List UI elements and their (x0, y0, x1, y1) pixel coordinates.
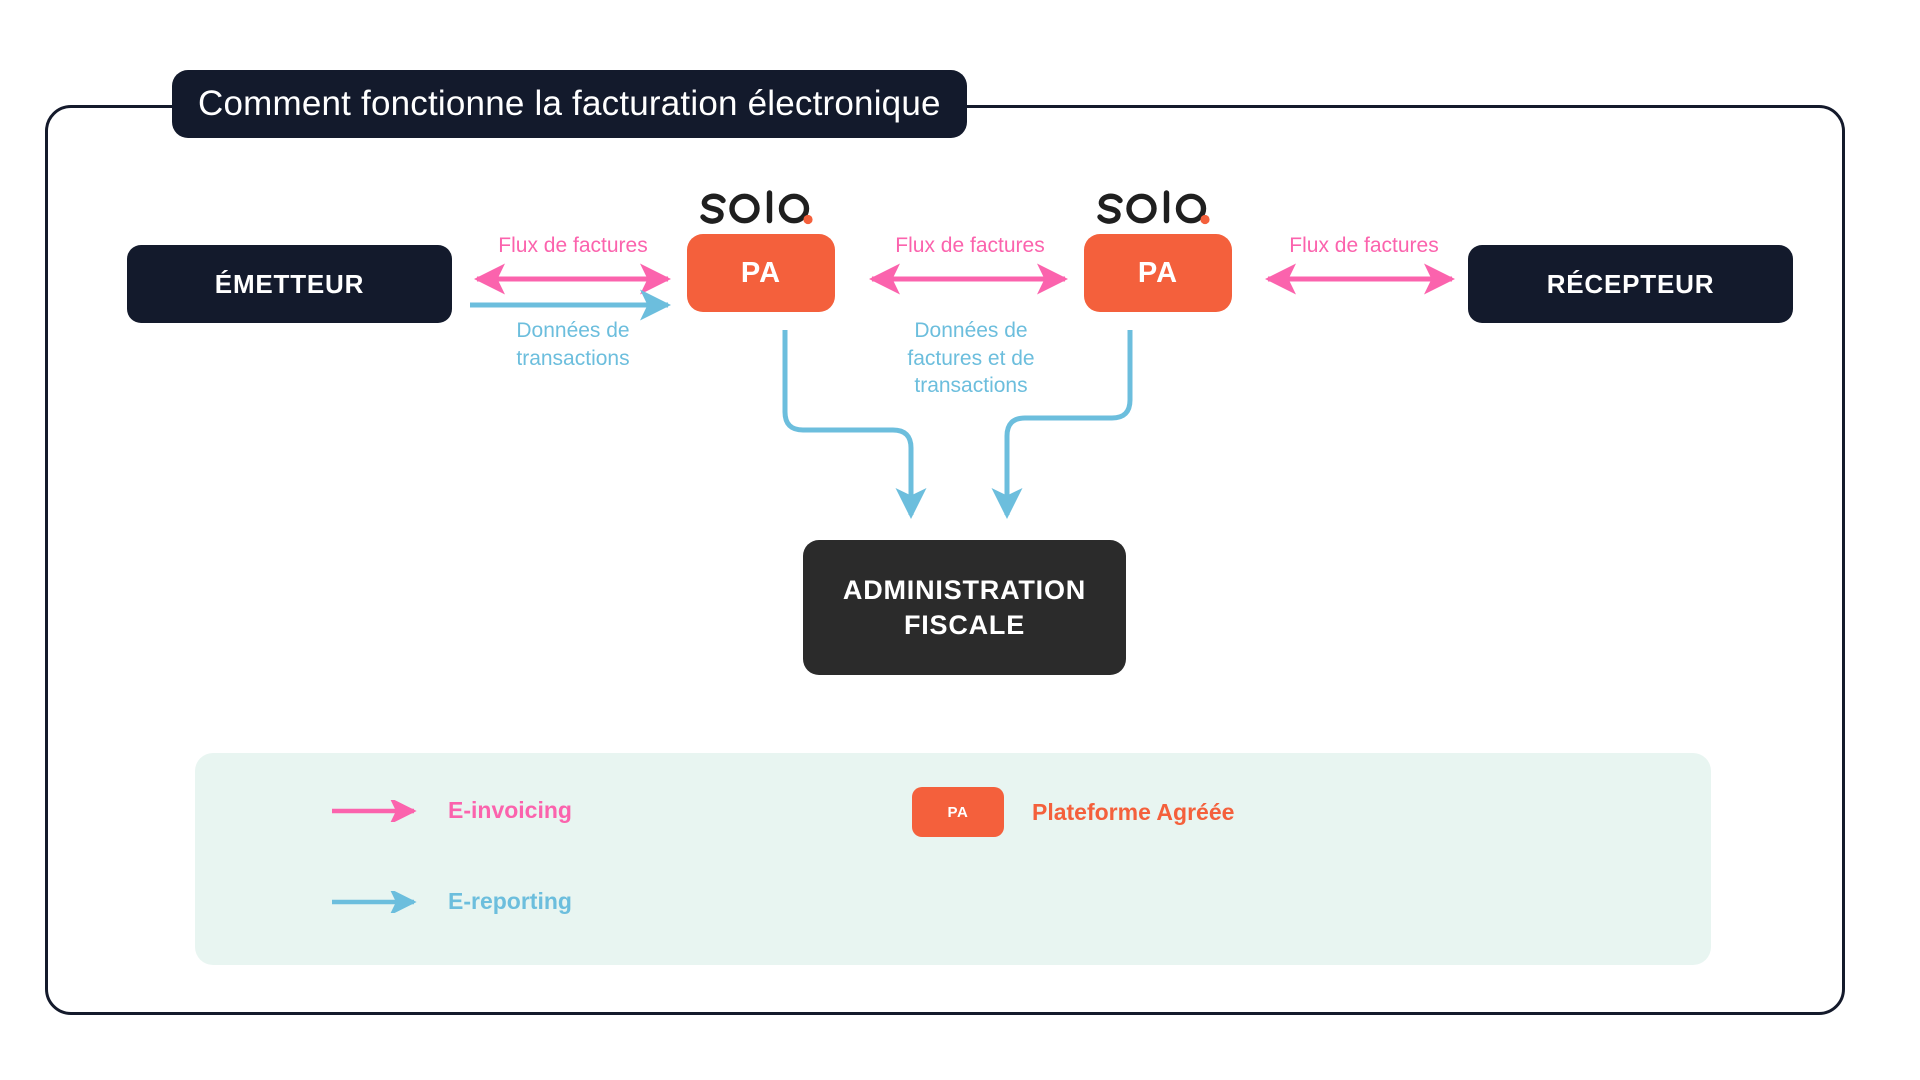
legend-panel (195, 753, 1711, 965)
flow-label-invoicing-3: Flux de factures (1246, 232, 1482, 260)
legend-label-plateforme-agreee: Plateforme Agréée (1032, 799, 1234, 826)
flow-label-invoicing-2: Flux de factures (852, 232, 1088, 260)
node-administration-label: ADMINISTRATION FISCALE (843, 573, 1086, 642)
solo-logo-icon (687, 188, 835, 230)
flow-label-reporting-2: Données de factures et de transactions (866, 317, 1076, 400)
legend-item-e-reporting: E-reporting (330, 888, 572, 915)
pa-chip-icon: PA (912, 787, 1004, 837)
blue-arrow-icon (330, 891, 426, 913)
legend-pa-chip-label: PA (948, 804, 969, 821)
flow-label-reporting-2-line1: Données de (914, 319, 1027, 342)
admin-line-1: ADMINISTRATION (843, 575, 1086, 605)
legend-item-e-invoicing: E-invoicing (330, 797, 572, 824)
page-title: Comment fonctionne la facturation électr… (198, 84, 941, 124)
node-emetteur[interactable]: ÉMETTEUR (127, 245, 452, 323)
flow-label-reporting-1: Données de transactions (455, 317, 691, 372)
pink-arrow-icon (330, 800, 426, 822)
platform-pa-label-2: PA (1138, 257, 1178, 290)
platform-group-2: PA (1084, 188, 1232, 312)
platform-pa-label-1: PA (741, 257, 781, 290)
node-recepteur-label: RÉCEPTEUR (1547, 269, 1715, 300)
flow-label-reporting-2-line3: transactions (914, 374, 1027, 397)
diagram-title-badge: Comment fonctionne la facturation électr… (172, 70, 967, 138)
legend-label-e-invoicing: E-invoicing (448, 797, 572, 824)
node-administration-fiscale[interactable]: ADMINISTRATION FISCALE (803, 540, 1126, 675)
node-recepteur[interactable]: RÉCEPTEUR (1468, 245, 1793, 323)
solo-logo-icon (1084, 188, 1232, 230)
legend-label-e-reporting: E-reporting (448, 888, 572, 915)
flow-label-reporting-2-line2: factures et de (907, 347, 1034, 370)
admin-line-2: FISCALE (904, 610, 1025, 640)
legend-item-plateforme-agreee: PA Plateforme Agréée (912, 787, 1234, 837)
platform-pa-box-1[interactable]: PA (687, 234, 835, 312)
flow-label-reporting-1-line2: transactions (516, 347, 629, 370)
flow-label-invoicing-1: Flux de factures (455, 232, 691, 260)
flow-label-reporting-1-line1: Données de (516, 319, 629, 342)
platform-pa-box-2[interactable]: PA (1084, 234, 1232, 312)
platform-group-1: PA (687, 188, 835, 312)
node-emetteur-label: ÉMETTEUR (215, 269, 364, 300)
